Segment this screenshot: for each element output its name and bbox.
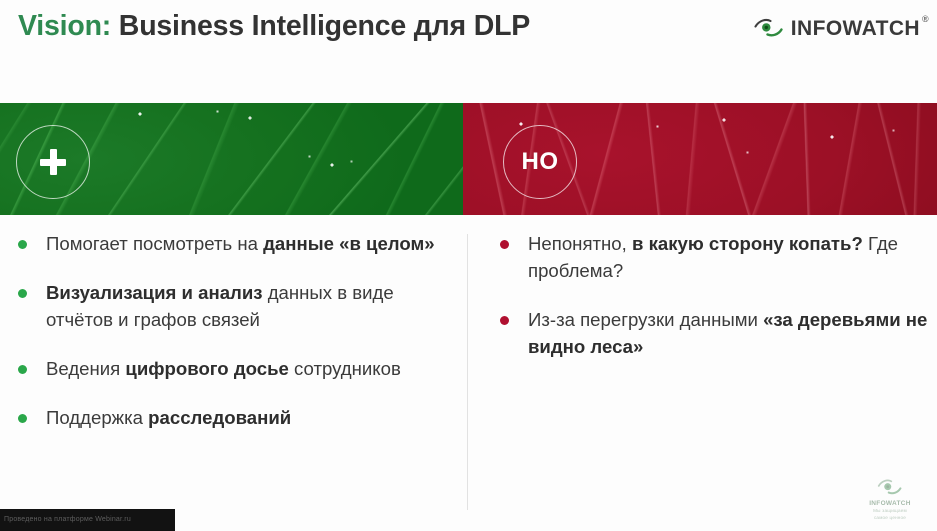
cons-bullet-list: Непонятно, в какую сторону копать? Где п… [490, 230, 930, 360]
pros-bullet-item-0-run-1: данные [263, 233, 334, 254]
logo-word-text: INFOWATCH [791, 17, 920, 40]
banner-cons-band: НО [463, 103, 937, 215]
eye-logo-icon [754, 17, 784, 41]
pros-bullet-item: Поддержка расследований [0, 404, 455, 431]
pros-bullet-item-0-run-2: «в целом» [334, 233, 435, 254]
pros-bullet-list: Помогает посмотреть на данные «в целом»В… [0, 230, 455, 431]
pros-bullet-item: Ведения цифрового досье сотрудников [0, 355, 455, 382]
watermark-wordmark: INFOWATCH [857, 500, 923, 507]
compare-banner: НО [0, 103, 937, 215]
pros-column: Помогает посмотреть на данные «в целом»В… [0, 230, 455, 453]
cons-bullet-item-1-run-0: Из-за перегрузки данными [528, 309, 763, 330]
watermark-tagline-line1: Мы защищаем [857, 508, 923, 514]
content-columns: Помогает посмотреть на данные «в целом»В… [0, 230, 937, 515]
infowatch-watermark: INFOWATCH Мы защищаем самое ценное [857, 478, 923, 521]
watermark-tagline-line2: самое ценное [857, 515, 923, 521]
pros-bullet-item: Визуализация и анализ данных в виде отчё… [0, 279, 455, 333]
pros-bullet-item-2-run-2: сотрудников [289, 358, 401, 379]
pros-bullet-item-1-run-0: Визуализация и анализ [46, 282, 263, 303]
column-divider [467, 234, 468, 510]
slide-header: Vision: Business Intelligence для DLP IN… [0, 0, 937, 88]
page-title: Vision: Business Intelligence для DLP [18, 10, 530, 43]
cons-column: Непонятно, в какую сторону копать? Где п… [490, 230, 930, 382]
cons-badge-label: НО [522, 150, 559, 174]
watermark-eye-icon [877, 478, 903, 498]
pros-bullet-item-2-run-0: Ведения [46, 358, 125, 379]
page-title-rest: Business Intelligence для DLP [111, 10, 530, 42]
logo-wordmark: INFOWATCH® [791, 17, 920, 41]
cons-bullet-item: Из-за перегрузки данными «за деревьями н… [490, 306, 930, 360]
infowatch-logo: INFOWATCH® [754, 12, 920, 46]
slide-canvas: Vision: Business Intelligence для DLP IN… [0, 0, 937, 531]
pros-badge [16, 125, 90, 199]
page-title-accent: Vision: [18, 10, 111, 42]
pros-bullet-item-3-run-0: Поддержка [46, 407, 148, 428]
cons-bullet-item: Непонятно, в какую сторону копать? Где п… [490, 230, 930, 284]
pros-bullet-item-2-run-1: цифрового досье [125, 358, 288, 379]
pros-bullet-item-0-run-0: Помогает посмотреть на [46, 233, 263, 254]
cons-bullet-item-0-run-1: в какую сторону копать? [632, 233, 863, 254]
pros-bullet-item: Помогает посмотреть на данные «в целом» [0, 230, 455, 257]
cons-badge: НО [503, 125, 577, 199]
logo-registered-mark: ® [922, 14, 929, 24]
platform-note-bar: Проведено на платформе Webinar.ru [0, 509, 175, 531]
banner-pros-band [0, 103, 463, 215]
cons-bullet-item-0-run-0: Непонятно, [528, 233, 632, 254]
pros-bullet-item-3-run-1: расследований [148, 407, 291, 428]
plus-icon [40, 149, 66, 175]
